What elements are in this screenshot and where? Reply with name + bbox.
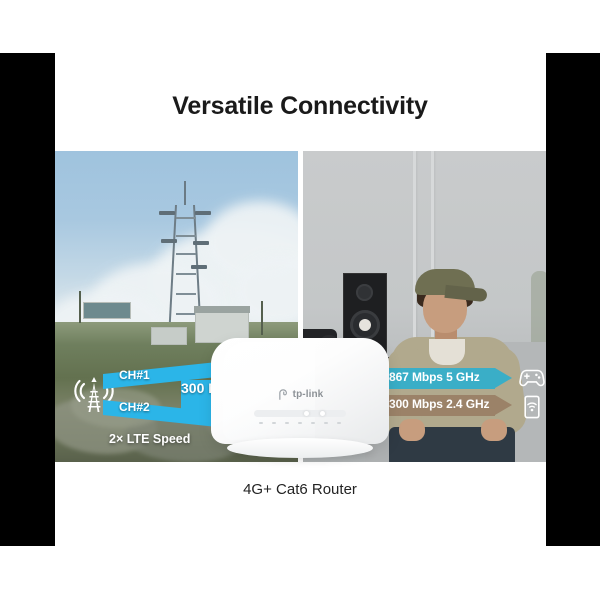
badge-5ghz: 867 Mbps 5 GHz: [383, 368, 515, 389]
speaker-woofer: [350, 310, 380, 340]
router-base: [227, 438, 373, 458]
channel-1-label: CH#1: [119, 368, 150, 382]
tower-antenna: [161, 239, 177, 243]
person-hand: [481, 419, 507, 441]
router-brand-logo: tp-link: [277, 388, 324, 401]
tower-brace: [176, 273, 196, 275]
router-led-icon: [298, 422, 302, 424]
router-led-icon: [337, 422, 341, 424]
badge-arrow-tip: [495, 368, 512, 388]
building: [151, 327, 187, 345]
tower-antenna: [195, 211, 211, 215]
phone-wifi-icon: [523, 395, 541, 419]
page-title: Versatile Connectivity: [0, 92, 600, 121]
router-led-icons: [259, 422, 341, 424]
router-led-icon: [285, 422, 289, 424]
router-led-icon: [324, 422, 328, 424]
tplink-logo-icon: [277, 388, 290, 401]
badge-24ghz-label: 300 Mbps 2.4 GHz: [389, 397, 489, 411]
router-brand-name: tp-link: [293, 389, 324, 400]
building: [83, 302, 131, 319]
gamepad-icon: [519, 365, 545, 389]
badge-arrow-tip: [495, 395, 512, 415]
person-undershirt: [429, 339, 465, 365]
router-led-on: [304, 411, 309, 416]
speaker-tweeter: [356, 284, 373, 301]
letterbox-bar-left: [0, 53, 55, 546]
router-led-icon: [259, 422, 263, 424]
device-icon-group: 4K: [519, 365, 546, 423]
product-caption: 4G+ Cat6 Router: [0, 481, 600, 498]
product-feature-image: Versatile Connectivity: [0, 0, 600, 600]
tower-brace: [176, 253, 196, 255]
lte-speed-caption: 2× LTE Speed: [109, 432, 190, 446]
tower-antenna: [159, 211, 175, 215]
person-with-cap: [389, 251, 519, 462]
router-body: tp-link: [211, 338, 389, 444]
utility-pole: [79, 291, 81, 323]
router-led-on: [320, 411, 325, 416]
tower-brace: [176, 293, 196, 295]
utility-pole: [261, 301, 263, 335]
badge-24ghz: 300 Mbps 2.4 GHz: [383, 395, 515, 416]
tower-mast: [184, 181, 186, 205]
router-led-icon: [272, 422, 276, 424]
badge-5ghz-label: 867 Mbps 5 GHz: [389, 370, 480, 384]
tower-brace: [176, 313, 196, 315]
channel-2-label: CH#2: [119, 400, 150, 414]
router-led-bar: [254, 410, 346, 417]
tower-antenna: [193, 241, 209, 245]
tower-brace: [176, 217, 196, 219]
router-product-image: tp-link: [203, 338, 398, 468]
router-led-icon: [311, 422, 315, 424]
letterbox-bar-right: [546, 53, 600, 546]
tower-brace: [176, 235, 196, 237]
tower-antenna: [191, 265, 207, 269]
person-hand: [399, 419, 425, 441]
